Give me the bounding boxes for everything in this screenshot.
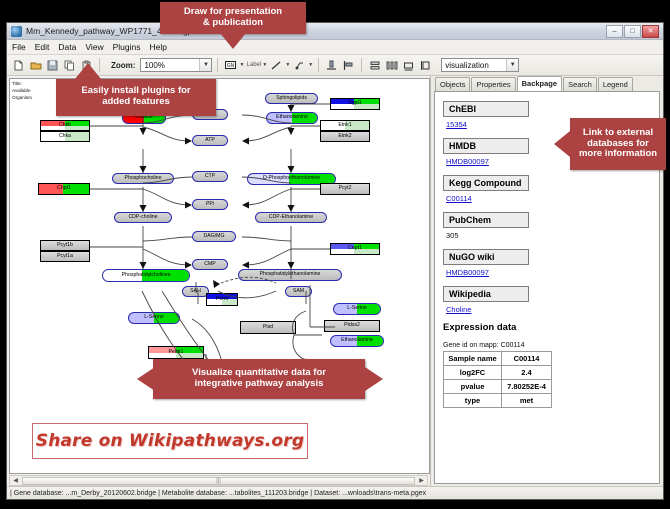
node-label: DAG/MG (203, 234, 224, 239)
node-label: Phosphatidylcholines (122, 273, 171, 278)
node-label: Pcyt1b (57, 243, 73, 248)
application-window: Mm_Kennedy_pathway_WP1771_45176.gpml – □… (6, 22, 664, 500)
annotation-plugins-arrow (75, 63, 101, 79)
common-width-icon[interactable] (401, 58, 416, 73)
annotation-visualize: Visualize quantitative data for integrat… (153, 359, 365, 399)
tab-backpage[interactable]: Backpage (517, 76, 562, 91)
db-header-pubchem: PubChem (443, 212, 529, 228)
table-row: type met (444, 394, 552, 408)
db-section-pubchem: PubChem 305 (443, 210, 659, 240)
table-row: pvalue 7.80252E-4 (444, 380, 552, 394)
status-bar: | Gene database: ...m_Derby_20120602.bri… (7, 486, 663, 499)
chevron-down-icon[interactable]: ▼ (308, 62, 313, 68)
node-label: Ethanolamine (341, 338, 373, 343)
expr-value: 7.80252E-4 (502, 380, 552, 394)
canvas-horizontal-scrollbar[interactable]: ◀ ||| ▶ (9, 475, 428, 486)
expression-data-heading: Expression data (443, 322, 659, 333)
node-label: Etnk2 (338, 134, 351, 139)
close-button[interactable]: ✕ (642, 25, 659, 38)
pathway-canvas[interactable]: Title: Available Organism (9, 78, 430, 474)
datanode-icon[interactable]: GN (223, 58, 238, 73)
node-label: Cept1 (348, 246, 362, 251)
db-header-wikipedia: Wikipedia (443, 286, 529, 302)
annotation-visualize-arrow-right (365, 367, 383, 391)
expr-value: C00114 (502, 352, 552, 366)
db-section-kegg: Kegg Compound C00114 (443, 173, 659, 203)
interaction-icon[interactable] (292, 58, 307, 73)
chevron-down-icon[interactable]: ▼ (239, 62, 244, 68)
menu-bar: File Edit Data View Plugins Help (7, 40, 663, 55)
side-panel-tabs: Objects Properties Backpage Search Legen… (431, 76, 663, 91)
expr-value: 2.4 (502, 366, 552, 380)
toolbar-separator-3 (318, 58, 319, 72)
node-label: Choline (135, 115, 153, 120)
stack-vertical-icon[interactable] (367, 58, 382, 73)
visualization-combo[interactable]: visualization ▼ (441, 58, 519, 72)
node-label: Phosphatidylethanolamine (260, 272, 321, 277)
status-text: | Gene database: ...m_Derby_20120602.bri… (10, 490, 426, 497)
distribute-horizontal-icon[interactable] (384, 58, 399, 73)
scroll-thumb[interactable]: ||| (22, 477, 415, 485)
db-header-kegg: Kegg Compound (443, 175, 529, 191)
visualization-value: visualization (445, 61, 489, 70)
node-label: Pemt1 (169, 350, 184, 355)
db-header-hmdb: HMDB (443, 138, 529, 154)
db-value-pubchem: 305 (446, 231, 659, 240)
annotation-draw: Draw for presentation & publication (160, 2, 306, 34)
node-label: L-Serine (144, 315, 164, 320)
annotation-visualize-line2: integrative pathway analysis (192, 379, 326, 390)
node-label: PPi (206, 202, 214, 207)
label-icon[interactable]: Label (246, 58, 261, 73)
open-folder-icon[interactable] (28, 58, 43, 73)
zoom-combo[interactable]: 100% ▼ (140, 58, 212, 72)
tab-search[interactable]: Search (563, 77, 597, 91)
db-section-wikipedia: Wikipedia Choline (443, 284, 659, 314)
db-header-chebi: ChEBI (443, 101, 529, 117)
db-header-nugo: NuGO wiki (443, 249, 529, 265)
label-tool[interactable]: Label ▼ (246, 58, 267, 73)
table-row: log2FC 2.4 (444, 366, 552, 380)
node-label: Pcyt1a (57, 254, 73, 259)
annotation-plugins-line2: added features (81, 97, 190, 108)
annotation-share: Share on Wikipathways.org (32, 423, 308, 459)
canvas-panel: Title: Available Organism (7, 76, 431, 486)
annotation-links-line1: Link to external (579, 128, 657, 139)
title-bar: Mm_Kennedy_pathway_WP1771_45176.gpml – □… (7, 23, 663, 40)
maximize-button[interactable]: □ (624, 25, 641, 38)
chevron-down-icon[interactable]: ▼ (262, 62, 267, 68)
expression-table: Sample name C00114 log2FC 2.4 pvalue 7.8… (443, 351, 552, 408)
annotation-draw-line2: & publication (184, 18, 282, 29)
chevron-down-icon[interactable]: ▼ (199, 59, 211, 71)
datanode-tool[interactable]: GN ▼ (223, 58, 244, 73)
node-label: Pisd (263, 325, 273, 330)
tab-objects[interactable]: Objects (435, 77, 470, 91)
db-link-kegg[interactable]: C00114 (446, 194, 659, 203)
line-icon[interactable] (269, 58, 284, 73)
minimize-button[interactable]: – (606, 25, 623, 38)
annotation-links-line3: more information (579, 149, 657, 160)
toolbar-separator-2 (217, 58, 218, 72)
db-link-nugo[interactable]: HMDB00097 (446, 268, 659, 277)
screenshot-root: Mm_Kennedy_pathway_WP1771_45176.gpml – □… (0, 0, 670, 509)
annotation-plugins: Easily install plugins for added feature… (56, 78, 216, 116)
menu-item-help[interactable]: Help (150, 42, 167, 52)
node-label: Ptdss2 (344, 323, 360, 328)
svg-text:GN: GN (227, 63, 235, 69)
menu-item-data[interactable]: Data (58, 42, 76, 52)
node-label: Chpt1 (57, 186, 71, 191)
annotation-links: Link to external databases for more info… (570, 118, 666, 170)
scroll-left-icon[interactable]: ◀ (10, 477, 21, 484)
expr-value: met (502, 394, 552, 408)
node-label: Ethanolamine (276, 115, 308, 120)
tab-legend[interactable]: Legend (598, 77, 633, 91)
menu-item-edit[interactable]: Edit (35, 42, 50, 52)
node-label: Etnk1 (338, 123, 351, 128)
pathway-edges (10, 79, 430, 474)
expr-key: type (444, 394, 502, 408)
node-label: CTP (205, 174, 215, 179)
node-label: CDP-Ethanolamine (269, 215, 313, 220)
tab-properties[interactable]: Properties (471, 77, 515, 91)
save-icon[interactable] (45, 58, 60, 73)
expr-key: pvalue (444, 380, 502, 394)
node-label: Pemt (216, 297, 228, 302)
zoom-label: Zoom: (111, 61, 135, 70)
menu-item-file[interactable]: File (12, 42, 26, 52)
node-label: Sphingolipids (276, 96, 307, 101)
expr-key: log2FC (444, 366, 502, 380)
toolbar: Zoom: 100% ▼ GN ▼ Label ▼ ▼ (7, 55, 663, 76)
node-label: Chka (59, 134, 71, 139)
table-row: Sample name C00114 (444, 352, 552, 366)
expression-gene-id: Gene id on mapp: C00114 (443, 342, 659, 349)
annotation-visualize-arrow-left (137, 367, 155, 391)
app-icon (11, 26, 22, 37)
window-controls[interactable]: – □ ✕ (606, 25, 659, 38)
node-label: SAM (293, 289, 304, 294)
node-label: CDP-choline (128, 215, 157, 220)
menu-item-view[interactable]: View (85, 42, 103, 52)
node-label: CMP (204, 262, 216, 267)
node-label: L-Serine (347, 306, 367, 311)
node-label: Phosphocholine (125, 176, 162, 181)
node-label: Sgpl1 (348, 101, 361, 106)
common-height-icon[interactable] (418, 58, 433, 73)
chevron-down-icon[interactable]: ▼ (506, 59, 518, 71)
node-label: Chkb (59, 123, 71, 128)
scroll-right-icon[interactable]: ▶ (416, 477, 427, 484)
line-tool[interactable]: ▼ (269, 58, 290, 73)
db-link-wikipedia[interactable]: Choline (446, 305, 659, 314)
node-label: ATP (205, 138, 215, 143)
interaction-tool[interactable]: ▼ (292, 58, 313, 73)
node-label: Pcyt2 (339, 186, 352, 191)
toolbar-separator-4 (361, 58, 362, 72)
menu-item-plugins[interactable]: Plugins (113, 42, 141, 52)
new-file-icon[interactable] (11, 58, 26, 73)
annotation-draw-arrow (220, 33, 246, 49)
align-bottom-icon[interactable] (324, 58, 339, 73)
annotation-links-arrow (554, 131, 570, 157)
expr-key: Sample name (444, 352, 502, 366)
zoom-value: 100% (144, 61, 164, 70)
node-label: O-Phosphoethanolamine (263, 176, 320, 181)
db-section-nugo: NuGO wiki HMDB00097 (443, 247, 659, 277)
align-left-icon[interactable] (341, 58, 356, 73)
node-label: SAH (190, 289, 201, 294)
chevron-down-icon[interactable]: ▼ (285, 62, 290, 68)
